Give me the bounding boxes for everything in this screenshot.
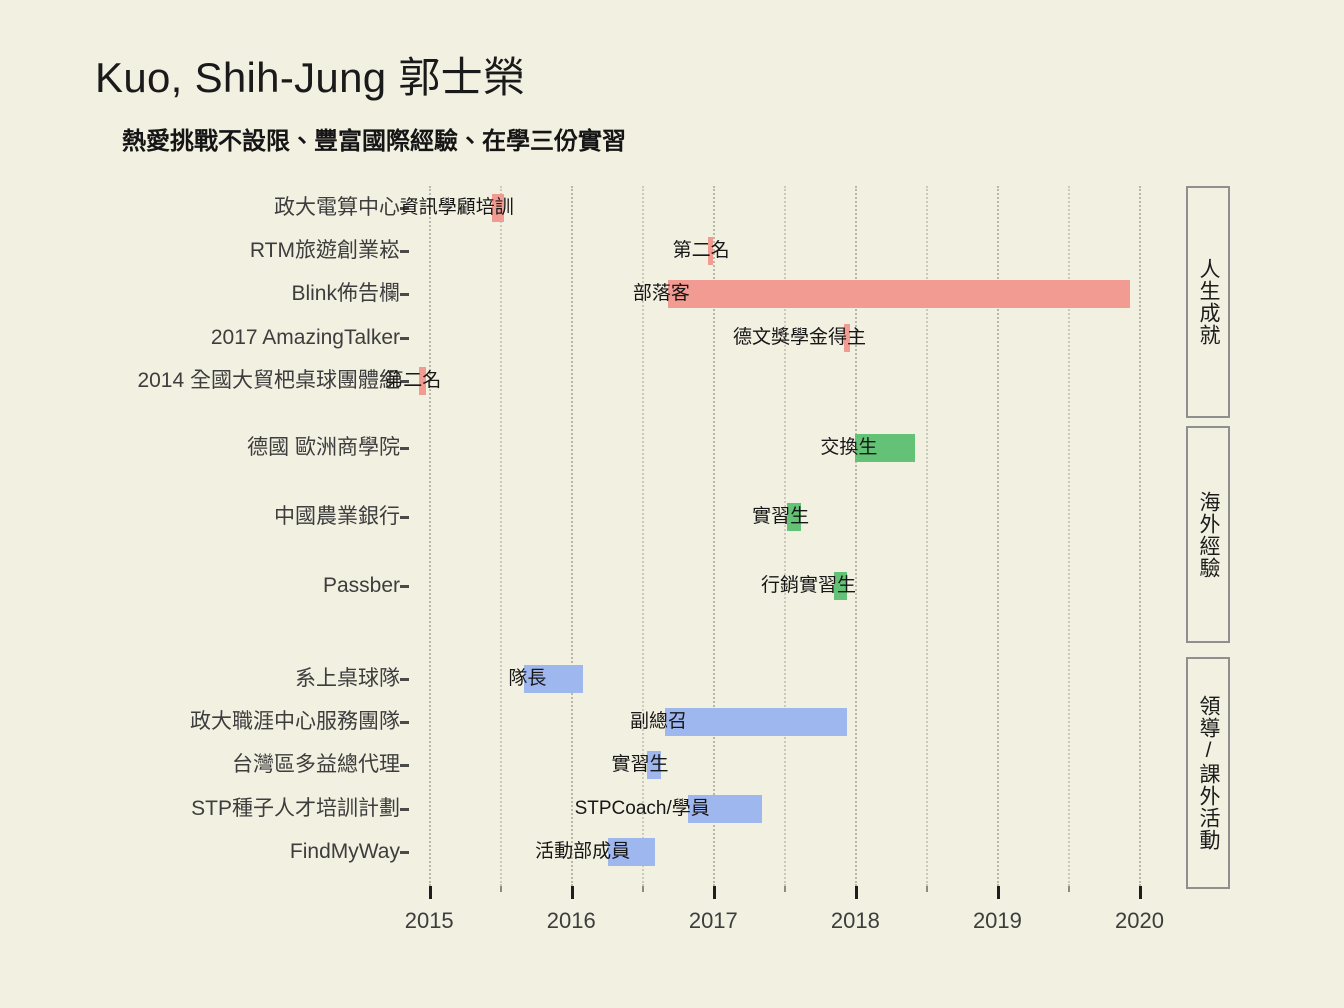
y-axis-tick [400,447,409,450]
chart-row: 交換生 [415,434,1175,462]
page-title: Kuo, Shih-Jung 郭士榮 [95,44,525,105]
timeline-bar-label: 部落客 [633,280,690,308]
y-axis-tick [400,585,409,588]
timeline-bar-label: 交換生 [820,434,877,462]
category-box-label: 人生成就 [1193,258,1223,346]
timeline-bar-label: 實習生 [612,751,669,779]
y-axis-tick [400,678,409,681]
y-axis-label: Blink佈告欄 [291,280,400,308]
timeline-bar-label: 行銷實習生 [761,572,856,600]
x-axis-tick-label: 2020 [1115,908,1164,934]
category-box-label: 海外經驗 [1193,491,1223,579]
x-axis-minor-tick [926,886,928,892]
y-axis-tick [400,764,409,767]
timeline-bar-label: 德文獎學金得主 [733,324,866,352]
y-axis-tick [400,851,409,854]
x-axis-minor-tick [1068,886,1070,892]
y-axis-tick [400,808,409,811]
x-axis-tick-2016 [571,886,574,899]
y-axis-label: RTM旅遊創業崧 [250,237,400,265]
x-axis-minor-tick [784,886,786,892]
y-axis-tick [400,337,409,340]
chart-row: 資訊學顧培訓 [415,194,1175,222]
y-axis-label: 2017 AmazingTalker [211,324,400,352]
x-axis-tick-label: 2017 [689,908,738,934]
page-subtitle: 熱愛挑戰不設限、豐富國際經驗、在學三份實習 [122,121,626,156]
category-box-2: 海外經驗 [1186,426,1230,643]
timeline-bar-label: 第二名 [673,237,730,265]
chart-row: 實習生 [415,503,1175,531]
y-axis-tick [400,721,409,724]
x-axis-tick-2015 [429,886,432,899]
x-axis-tick-2020 [1139,886,1142,899]
chart-row: 第二名 [415,237,1175,265]
chart-canvas: Kuo, Shih-Jung 郭士榮 熱愛挑戰不設限、豐富國際經驗、在學三份實習… [0,0,1344,1008]
chart-row: 隊長 [415,665,1175,693]
y-axis-label: 2014 全國大貿杷桌球團體組 [137,367,400,395]
y-axis-label: 政大電算中心 [274,194,400,222]
chart-row: 部落客 [415,280,1175,308]
y-axis-label: 政大職涯中心服務團隊 [190,708,400,736]
category-box-3: 領導/課外活動 [1186,657,1230,889]
category-box-1: 人生成就 [1186,186,1230,418]
y-axis-label: FindMyWay [290,838,400,866]
timeline-bar-label: 資訊學顧培訓 [400,194,514,222]
plot-area: 資訊學顧培訓第二名部落客德文獎學金得主第二名交換生實習生行銷實習生隊長副總召實習… [415,186,1175,886]
y-axis-tick [400,250,409,253]
y-axis-label: 德國 歐洲商學院 [247,434,400,462]
y-axis-label: 系上桌球隊 [295,665,400,693]
timeline-bar-label: 實習生 [752,503,809,531]
x-axis-tick-2018 [855,886,858,899]
x-axis-tick-label: 2015 [405,908,454,934]
y-axis-label: Passber [323,572,400,600]
chart-row: 活動部成員 [415,838,1175,866]
x-axis-tick-2019 [997,886,1000,899]
timeline-bar-label: STPCoach/學員 [575,795,710,823]
chart-row: 第二名 [415,367,1175,395]
y-axis-label: 台灣區多益總代理 [232,751,400,779]
chart-row: 副總召 [415,708,1175,736]
timeline-bar-label: 第二名 [384,367,441,395]
y-axis-tick [400,516,409,519]
x-axis: 201520162017201820192020 [415,886,1175,946]
y-axis-label: 中國農業銀行 [274,503,400,531]
y-axis-label: STP種子人才培訓計劃 [191,795,400,823]
timeline-bar[interactable] [665,708,847,736]
x-axis-tick-label: 2019 [973,908,1022,934]
x-axis-tick-2017 [713,886,716,899]
category-box-label: 領導/課外活動 [1193,695,1223,851]
x-axis-minor-tick [500,886,502,892]
x-axis-minor-tick [642,886,644,892]
y-axis-tick [400,293,409,296]
x-axis-tick-label: 2018 [831,908,880,934]
chart-row: STPCoach/學員 [415,795,1175,823]
chart-row: 德文獎學金得主 [415,324,1175,352]
y-axis-labels: 政大電算中心RTM旅遊創業崧Blink佈告欄2017 AmazingTalker… [0,186,400,886]
chart-row: 實習生 [415,751,1175,779]
timeline-bar[interactable] [668,280,1130,308]
chart-row: 行銷實習生 [415,572,1175,600]
x-axis-tick-label: 2016 [547,908,596,934]
timeline-bar-label: 隊長 [508,665,546,693]
timeline-bar-label: 副總召 [630,708,687,736]
timeline-bar-label: 活動部成員 [535,838,630,866]
